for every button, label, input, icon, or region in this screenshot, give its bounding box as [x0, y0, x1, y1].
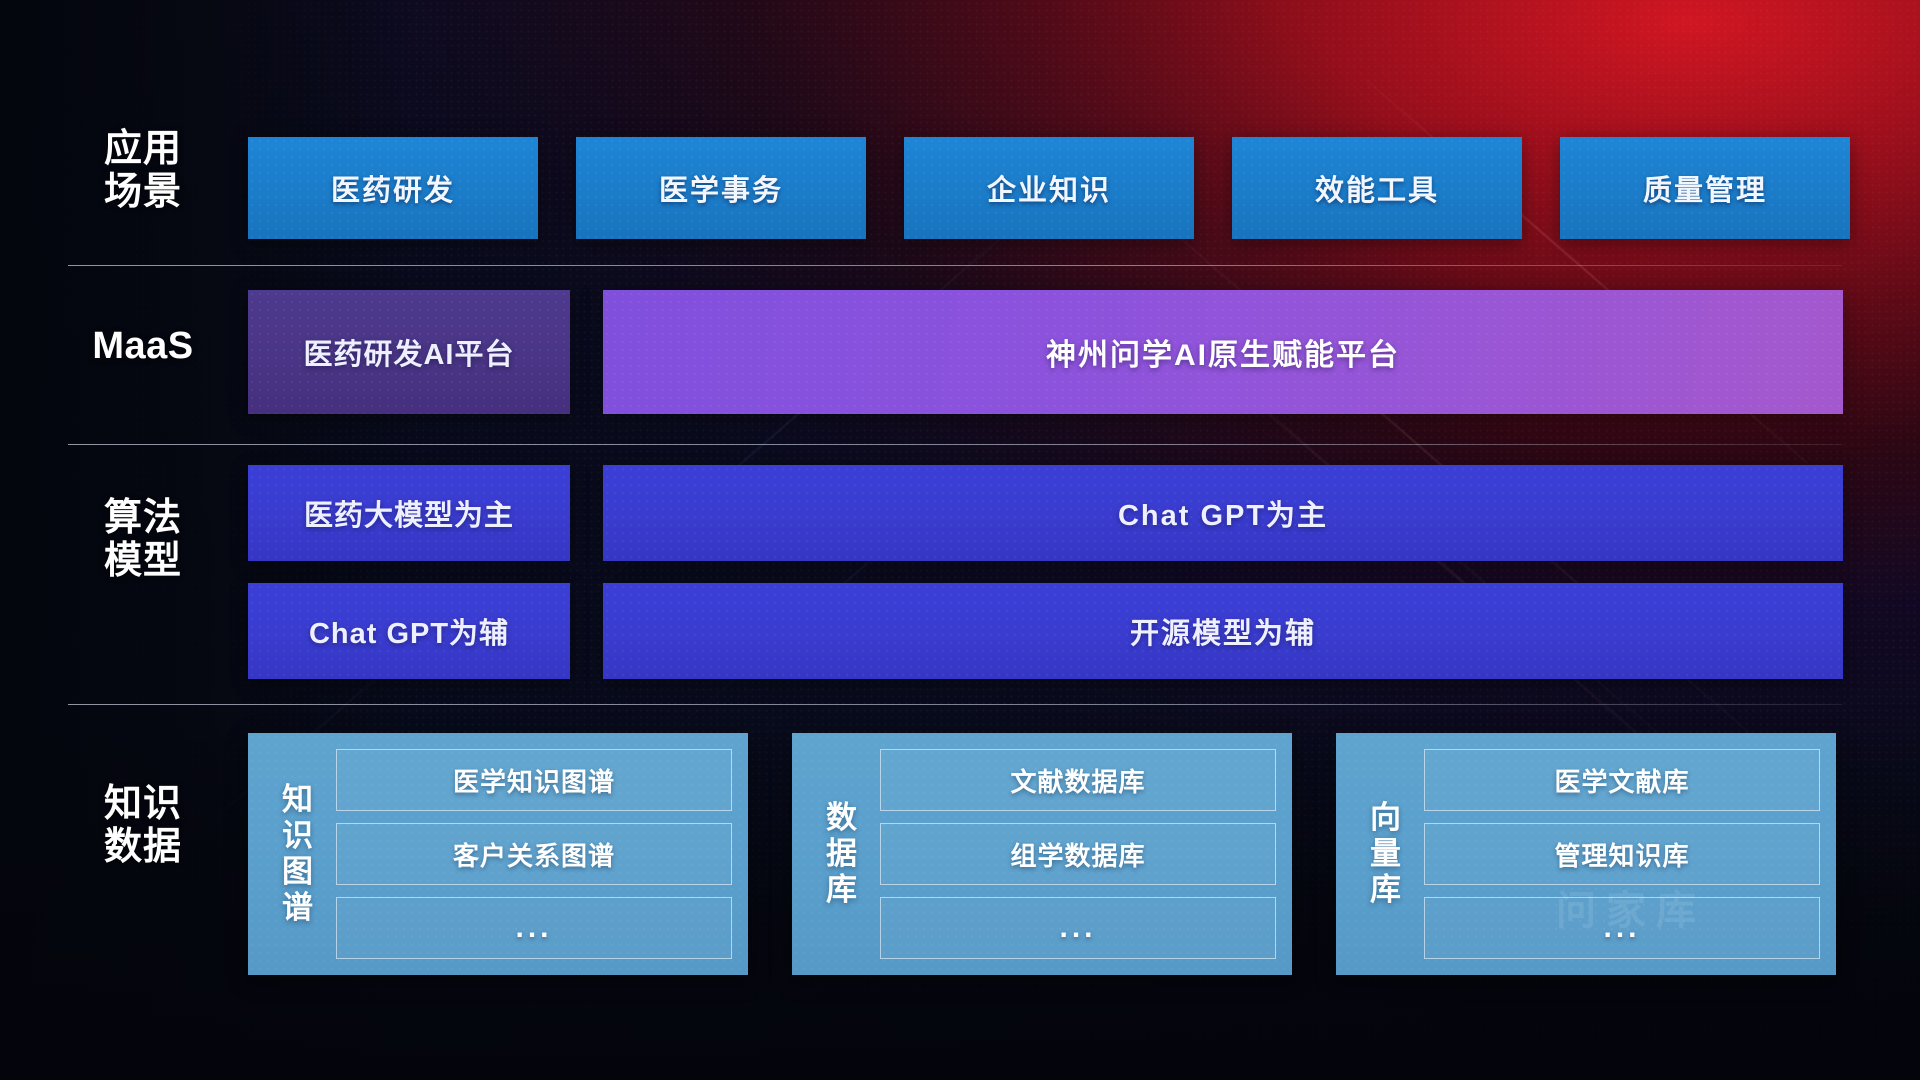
layer-label-knowledge: 知识 数据 [68, 783, 218, 868]
maas-row: 医药研发AI平台 神州问学AI原生赋能平台 [248, 290, 1843, 414]
algorithm-box-opensource-secondary[interactable]: 开源模型为辅 [603, 583, 1843, 679]
vertical-label-char: 识 [282, 818, 314, 854]
knowledge-item-more[interactable]: ... [880, 897, 1276, 959]
app-card-label: 效能工具 [1315, 167, 1439, 209]
application-scenario-row: 医药研发 医学事务 企业知识 效能工具 质量管理 [248, 137, 1850, 239]
vertical-label-char: 谱 [282, 890, 314, 926]
knowledge-panel-vector-store[interactable]: 向 量 库 医学文献库 管理知识库 ... [1336, 733, 1836, 975]
algorithm-box-label: Chat GPT为辅 [309, 610, 509, 652]
knowledge-item-list: 医学文献库 管理知识库 ... [1424, 749, 1820, 959]
layer-label-line2: 模型 [68, 540, 218, 583]
knowledge-panel-vertical-label: 数 据 库 [804, 800, 880, 908]
algorithm-row-secondary: Chat GPT为辅 开源模型为辅 [248, 583, 1843, 679]
layer-label-line2: 数据 [68, 826, 218, 869]
vertical-label-char: 向 [1370, 800, 1402, 836]
layer-divider [68, 704, 1842, 705]
maas-platform-shenzhou-wenxue[interactable]: 神州问学AI原生赋能平台 [603, 290, 1843, 414]
layer-divider [68, 444, 1842, 445]
layer-label-application: 应用 场景 [68, 128, 218, 213]
app-card-drug-rd[interactable]: 医药研发 [248, 137, 538, 239]
knowledge-item-more[interactable]: ... [1424, 897, 1820, 959]
algorithm-box-chatgpt-secondary[interactable]: Chat GPT为辅 [248, 583, 570, 679]
knowledge-panel-knowledge-graph[interactable]: 知 识 图 谱 医学知识图谱 客户关系图谱 ... [248, 733, 748, 975]
layer-label-maas: MaaS [68, 325, 218, 368]
knowledge-item[interactable]: 医学知识图谱 [336, 749, 732, 811]
vertical-label-char: 库 [826, 872, 858, 908]
layer-label-line1: 算法 [68, 497, 218, 540]
app-card-label: 医学事务 [659, 167, 783, 209]
app-card-medical-affairs[interactable]: 医学事务 [576, 137, 866, 239]
algorithm-box-chatgpt-primary[interactable]: Chat GPT为主 [603, 465, 1843, 561]
app-card-label: 质量管理 [1643, 167, 1767, 209]
knowledge-item[interactable]: 管理知识库 [1424, 823, 1820, 885]
maas-platform-drug-rd[interactable]: 医药研发AI平台 [248, 290, 570, 414]
layer-divider [68, 265, 1842, 266]
vertical-label-char: 图 [282, 854, 314, 890]
algorithm-box-drug-llm-primary[interactable]: 医药大模型为主 [248, 465, 570, 561]
algorithm-box-label: Chat GPT为主 [1118, 492, 1328, 534]
algorithm-box-label: 开源模型为辅 [1130, 610, 1316, 652]
knowledge-panel-database[interactable]: 数 据 库 文献数据库 组学数据库 ... [792, 733, 1292, 975]
vertical-label-char: 库 [1370, 872, 1402, 908]
vertical-label-char: 知 [282, 782, 314, 818]
layer-label-algorithm: 算法 模型 [68, 497, 218, 582]
knowledge-item-list: 文献数据库 组学数据库 ... [880, 749, 1276, 959]
knowledge-panel-vertical-label: 知 识 图 谱 [260, 782, 336, 926]
app-card-efficiency-tools[interactable]: 效能工具 [1232, 137, 1522, 239]
maas-left-label: 医药研发AI平台 [303, 331, 514, 373]
knowledge-item[interactable]: 客户关系图谱 [336, 823, 732, 885]
knowledge-data-row: 知 识 图 谱 医学知识图谱 客户关系图谱 ... 数 据 库 文献数据库 组学… [248, 733, 1836, 975]
app-card-quality-management[interactable]: 质量管理 [1560, 137, 1850, 239]
knowledge-item-more[interactable]: ... [336, 897, 732, 959]
layer-label-line1: 知识 [68, 783, 218, 826]
layer-label-line1: 应用 [68, 128, 218, 171]
architecture-diagram: 应用 场景 医药研发 医学事务 企业知识 效能工具 质量管理 MaaS 医药研发… [0, 0, 1920, 1080]
knowledge-item[interactable]: 医学文献库 [1424, 749, 1820, 811]
app-card-enterprise-knowledge[interactable]: 企业知识 [904, 137, 1194, 239]
knowledge-panel-vertical-label: 向 量 库 [1348, 800, 1424, 908]
algorithm-model-section: 医药大模型为主 Chat GPT为主 Chat GPT为辅 开源模型为辅 [248, 465, 1843, 679]
algorithm-row-primary: 医药大模型为主 Chat GPT为主 [248, 465, 1843, 561]
app-card-label: 医药研发 [331, 167, 455, 209]
maas-right-label: 神州问学AI原生赋能平台 [1046, 330, 1400, 374]
vertical-label-char: 量 [1370, 836, 1402, 872]
app-card-label: 企业知识 [987, 167, 1111, 209]
knowledge-item[interactable]: 组学数据库 [880, 823, 1276, 885]
vertical-label-char: 据 [826, 836, 858, 872]
algorithm-box-label: 医药大模型为主 [304, 492, 514, 534]
knowledge-item-list: 医学知识图谱 客户关系图谱 ... [336, 749, 732, 959]
vertical-label-char: 数 [826, 800, 858, 836]
layer-label-line2: 场景 [68, 171, 218, 214]
knowledge-item[interactable]: 文献数据库 [880, 749, 1276, 811]
